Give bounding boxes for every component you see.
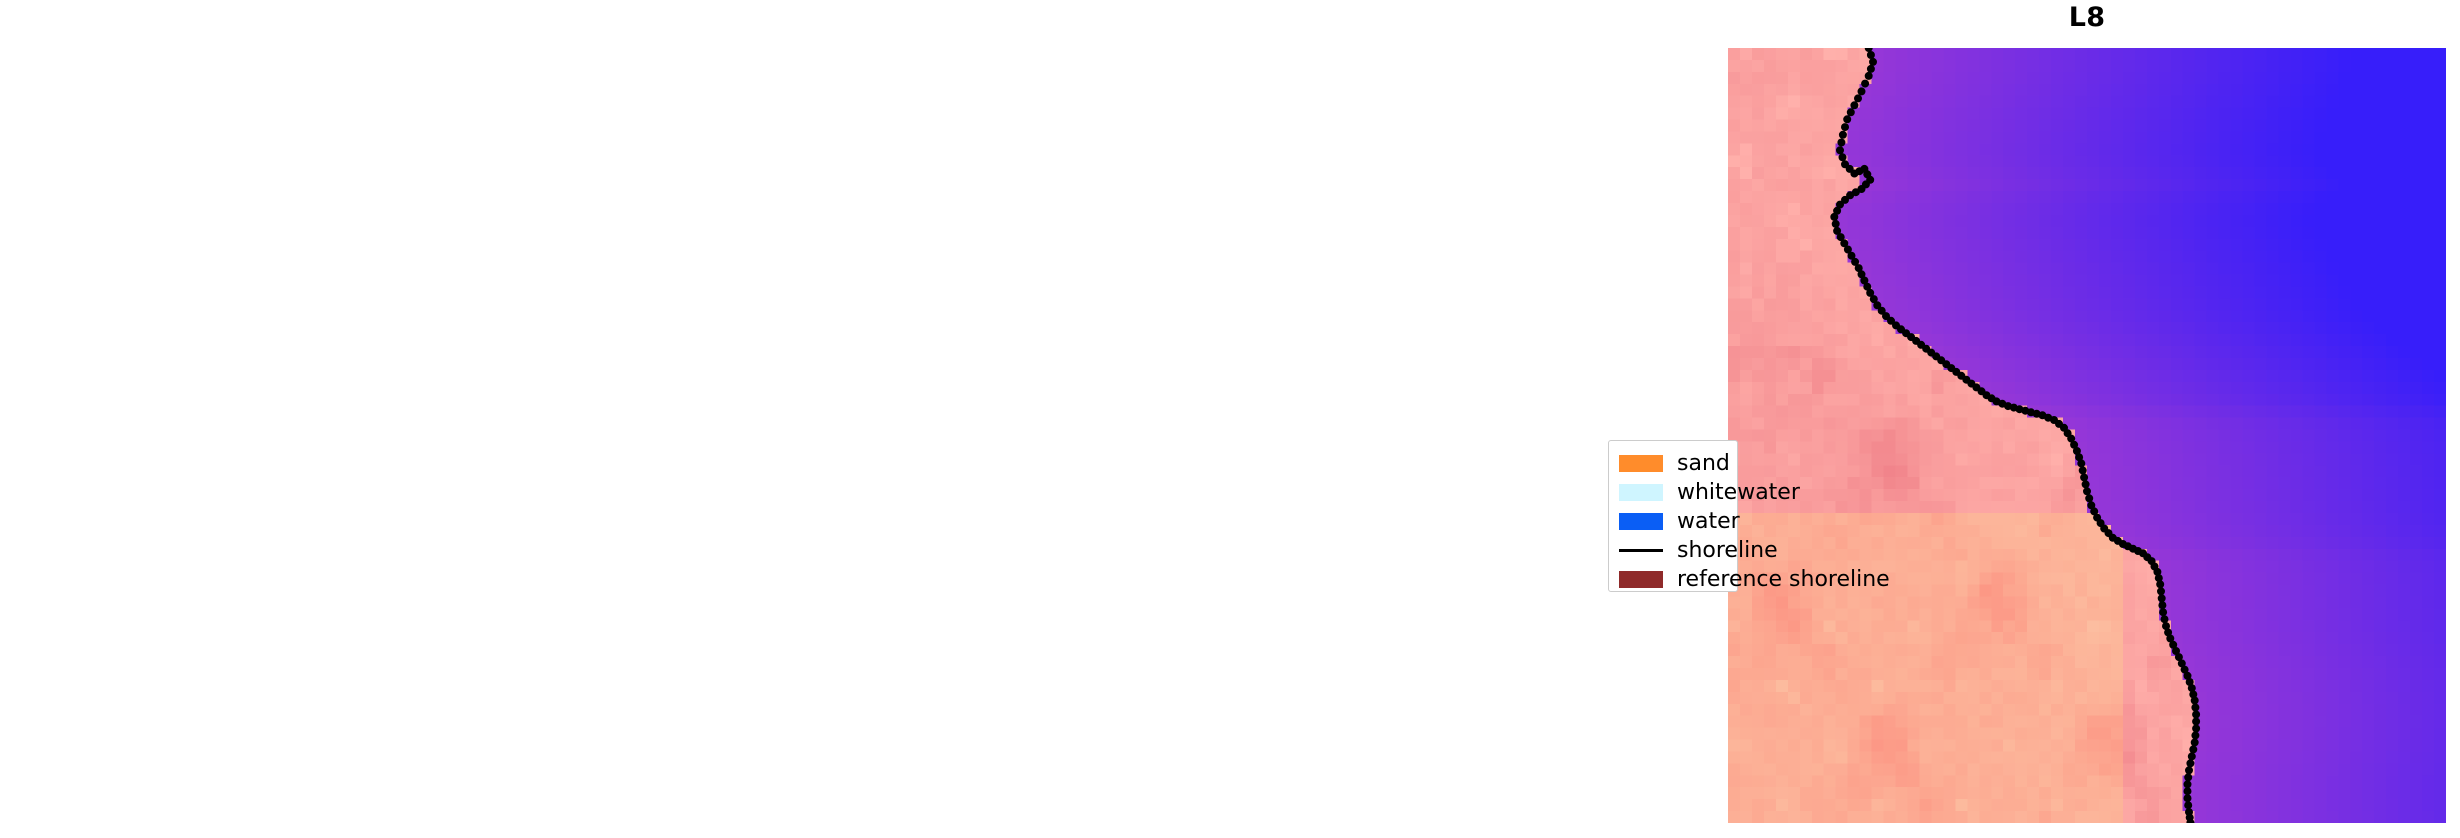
- figure-canvas: sar1868 2021-01-29-10-00-05 L8 sand whit…: [0, 0, 2460, 838]
- sar-panel-axes[interactable]: [12, 48, 730, 823]
- l8-raster-image: [1728, 48, 2446, 823]
- legend-item-shoreline: shoreline: [1619, 536, 1727, 565]
- whitewater-color-swatch: [1619, 484, 1663, 501]
- classification-overlay: [868, 48, 1586, 823]
- sar-raster-image: [12, 48, 730, 823]
- legend-item-reference-shoreline: reference shoreline: [1619, 565, 1727, 594]
- shoreline-line-swatch: [1619, 549, 1663, 552]
- classified-panel-axes[interactable]: [868, 48, 1586, 823]
- legend-item-water: water: [1619, 507, 1727, 536]
- legend-label-shoreline: shoreline: [1677, 540, 1778, 562]
- legend-label-reference-shoreline: reference shoreline: [1677, 569, 1890, 591]
- l8-panel-title: L8: [1728, 2, 2446, 33]
- reference-shoreline-color-swatch: [1619, 571, 1663, 588]
- sand-color-swatch: [1619, 455, 1663, 472]
- sar-panel-title: sar1868: [12, 2, 730, 33]
- legend-label-whitewater: whitewater: [1677, 482, 1800, 504]
- water-color-swatch: [1619, 513, 1663, 530]
- legend-item-whitewater: whitewater: [1619, 478, 1727, 507]
- legend-item-sand: sand: [1619, 449, 1727, 478]
- legend-label-sand: sand: [1677, 453, 1730, 475]
- class-legend: sand whitewater water shoreline referenc…: [1608, 440, 1738, 592]
- l8-panel-axes[interactable]: [1728, 48, 2446, 823]
- legend-label-water: water: [1677, 511, 1740, 533]
- classified-panel-title: 2021-01-29-10-00-05: [868, 2, 1586, 33]
